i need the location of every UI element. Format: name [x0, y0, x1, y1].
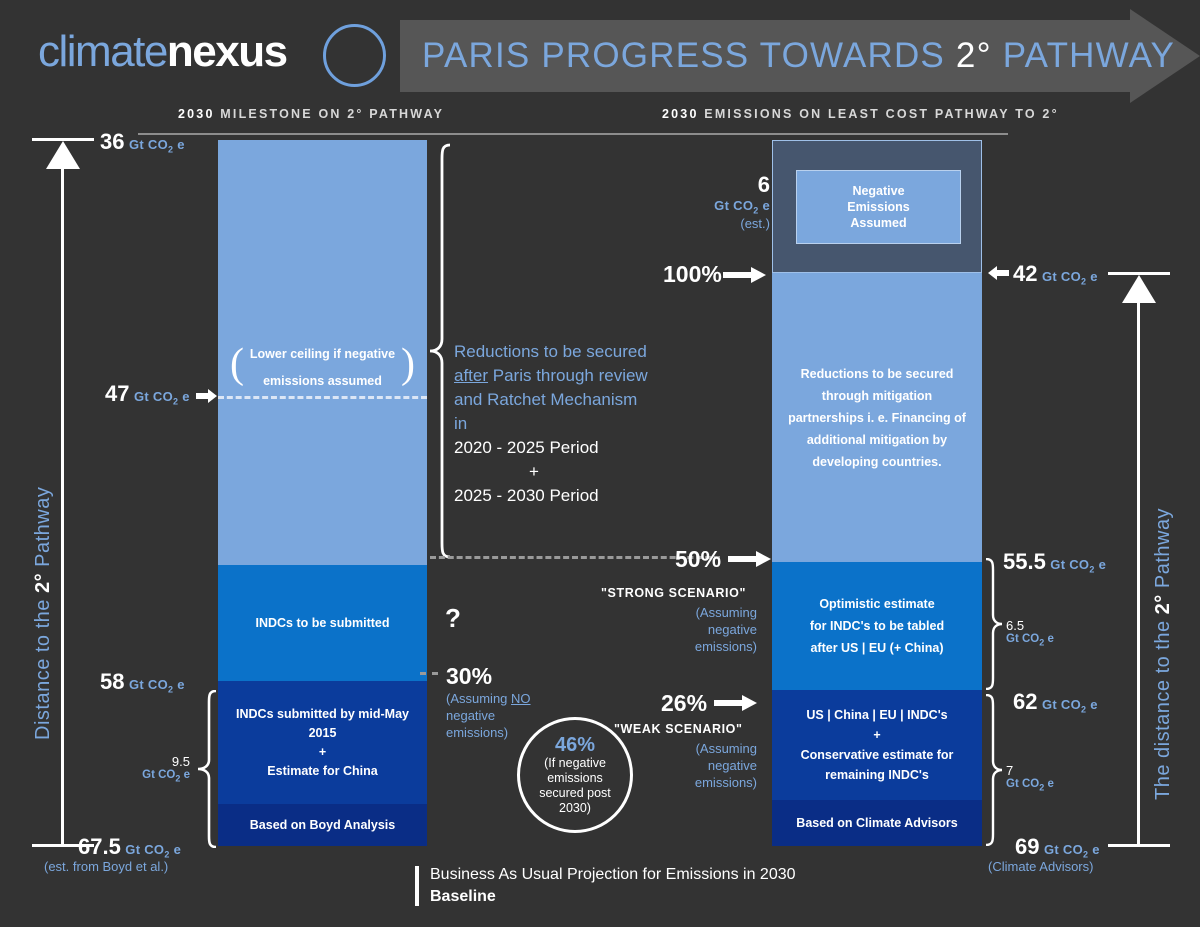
middle-46-circle-l2: emissions — [547, 771, 603, 786]
middle-reductions-l4: in — [454, 412, 684, 436]
strong-scenario-note: (Assuming negative emissions) — [600, 604, 757, 655]
middle-pct-26-arrow-icon — [714, 694, 758, 712]
banner-title-post: PATHWAY — [992, 36, 1175, 75]
right-axis-vertical-label-pre: The distance to the — [1152, 614, 1174, 800]
left-bar-segment-submitted-l4: Estimate for China — [267, 762, 377, 781]
left-axis-arrow-icon — [46, 141, 80, 169]
right-value-69: 69 Gt CO2 e — [1015, 834, 1100, 860]
left-value-36-unit: Gt CO2 e — [129, 137, 185, 152]
middle-reductions-l6: + — [454, 460, 614, 484]
right-neg-emissions-unit: Gt CO2 e — [690, 198, 770, 216]
left-bar-segment-submitted[interactable]: INDCs submitted by mid-May 2015 + Estima… — [218, 681, 427, 804]
right-bar-negative-emissions-l2: Emissions — [847, 199, 910, 215]
right-bar-segment-mitigation-l5: developing countries. — [812, 451, 941, 473]
right-value-62: 62 Gt CO2 e — [1013, 689, 1098, 715]
ceiling-paren-open-icon: ( — [230, 338, 244, 390]
right-value-62-number: 62 — [1013, 689, 1037, 714]
left-value-58: 58 Gt CO2 e — [100, 669, 185, 695]
right-value-42-number: 42 — [1013, 261, 1037, 286]
right-bar-segment-optimistic-l1: Optimistic estimate — [819, 593, 934, 615]
middle-pct-50: 50% — [675, 546, 721, 573]
right-bar-segment-mitigation[interactable]: Reductions to be secured through mitigat… — [772, 273, 982, 562]
right-bracket-7-unit-a: Gt CO — [1006, 778, 1039, 790]
left-bar-segment-source-label: Based on Boyd Analysis — [250, 816, 395, 835]
left-bracket-95-unit: Gt CO2 e — [138, 769, 190, 783]
right-axis-line — [1137, 302, 1140, 846]
logo-text-nexus: nexus — [167, 27, 287, 76]
right-value-69-number: 69 — [1015, 834, 1039, 859]
right-bar-segment-conservative[interactable]: US | China | EU | INDC's + Conservative … — [772, 690, 982, 800]
right-bracket-65-icon — [984, 558, 1004, 690]
right-bar-negative-emissions-l1: Negative — [852, 183, 904, 199]
middle-reductions-l2-after: after — [454, 366, 488, 385]
right-value-69-note: (Climate Advisors) — [988, 859, 1093, 874]
left-value-675-unit-a: Gt CO — [125, 842, 164, 857]
middle-pct-30-note-l1a: (Assuming — [446, 691, 511, 706]
left-value-675-unit: Gt CO2 e — [125, 842, 181, 857]
left-value-47-unit-b: e — [178, 389, 189, 404]
left-bar: INDCs to be submitted INDCs submitted by… — [218, 140, 427, 846]
right-bar-segment-mitigation-l4: additional mitigation by — [807, 429, 947, 451]
left-bar-ceiling-note-l1: Lower ceiling if negative — [232, 341, 413, 368]
right-bar-segment-conservative-l4: remaining INDC's — [825, 765, 929, 785]
right-value-42-unit: Gt CO2 e — [1042, 269, 1098, 284]
middle-reductions-l3: and Ratchet Mechanism — [454, 388, 684, 412]
left-value-58-unit: Gt CO2 e — [129, 677, 185, 692]
left-axis-line — [61, 168, 64, 846]
middle-pct-30: 30% — [446, 663, 492, 690]
left-value-675-note: (est. from Boyd et al.) — [44, 859, 168, 874]
middle-reductions-l2: after Paris through review — [454, 364, 684, 388]
middle-pct-26: 26% — [661, 690, 707, 717]
left-axis-vertical-label: Distance to the 2° Pathway — [32, 487, 55, 740]
left-value-36: 36 Gt CO2 e — [100, 129, 185, 155]
middle-46-circle-l3: secured post — [539, 786, 611, 801]
right-value-555-unit: Gt CO2 e — [1050, 557, 1106, 572]
middle-30-dashline — [420, 672, 438, 675]
right-bracket-7-unit-b: e — [1044, 778, 1054, 790]
left-value-47: 47 Gt CO2 e — [105, 381, 190, 407]
left-value-36-unit-a: Gt CO — [129, 137, 168, 152]
left-value-36-unit-b: e — [173, 137, 184, 152]
right-bar-segment-conservative-l2: + — [873, 725, 880, 745]
right-column-header-text: EMISSIONS ON LEAST COST PATHWAY TO 2° — [699, 107, 1059, 121]
right-bar-segment-source-label: Based on Climate Advisors — [796, 814, 957, 833]
right-bar-segment-mitigation-l1: Reductions to be secured — [801, 363, 954, 385]
weak-scenario-label: "WEAK SCENARIO" — [614, 722, 743, 736]
strong-scenario-note-l1: (Assuming — [600, 604, 757, 621]
right-value-69-unit-b: e — [1088, 842, 1099, 857]
page-header: climatenexus PARIS PROGRESS TOWARDS 2° P… — [0, 0, 1200, 100]
middle-46-circle: 46% (If negative emissions secured post … — [517, 717, 633, 833]
right-axis-vertical-label-post: Pathway — [1152, 508, 1174, 594]
left-value-675-unit-b: e — [170, 842, 181, 857]
left-value-675-number: 67.5 — [78, 834, 121, 859]
top-rule — [138, 133, 1008, 135]
strong-scenario-label: "STRONG SCENARIO" — [601, 586, 746, 600]
right-value-555: 55.5 Gt CO2 e — [1003, 549, 1106, 575]
right-bar-segment-optimistic-l2: for INDC's to be tabled — [810, 615, 944, 637]
right-bracket-7-label: 7 Gt CO2 e — [1006, 763, 1054, 792]
strong-scenario-note-l2: negative — [600, 621, 757, 638]
middle-46-circle-l1: (If negative — [544, 756, 606, 771]
right-bar-segment-source[interactable]: Based on Climate Advisors — [772, 800, 982, 846]
left-bracket-95-icon — [196, 690, 218, 848]
banner-title-degree: 2° — [956, 36, 992, 75]
left-value-58-unit-a: Gt CO — [129, 677, 168, 692]
logo: climatenexus — [38, 22, 388, 82]
left-bracket-95-label: 9.5 Gt CO2 e — [138, 754, 190, 783]
middle-pct-100: 100% — [663, 261, 722, 288]
footer-line-1: Business As Usual Projection for Emissio… — [430, 866, 796, 884]
middle-pct-30-note-l1: (Assuming NO — [446, 690, 576, 707]
left-bar-ceiling-dashline — [218, 396, 427, 399]
right-value-62-unit-b: e — [1086, 697, 1097, 712]
middle-pct-100-arrow-icon — [723, 266, 767, 284]
footer-accent-bar — [415, 866, 419, 906]
left-bar-ceiling-note: ( Lower ceiling if negative emissions as… — [232, 341, 413, 395]
left-axis-vertical-label-post: Pathway — [32, 487, 54, 573]
right-value-62-unit-a: Gt CO — [1042, 697, 1081, 712]
right-bar: Reductions to be secured through mitigat… — [772, 140, 982, 846]
left-column-header-year: 2030 — [178, 107, 215, 121]
middle-reductions-l5: 2020 - 2025 Period — [454, 436, 684, 460]
banner-title: PARIS PROGRESS TOWARDS 2° PATHWAY — [422, 20, 1175, 92]
left-column-header-text: MILESTONE ON 2° PATHWAY — [215, 107, 445, 121]
right-axis-bottom-cap — [1108, 844, 1170, 847]
left-axis-vertical-label-pre: Distance to the — [32, 593, 54, 740]
left-bar-ceiling-note-l2: emissions assumed — [232, 368, 413, 395]
left-bar-segment-to-be-submitted[interactable]: INDCs to be submitted — [218, 565, 427, 681]
right-value-42: 42 Gt CO2 e — [1013, 261, 1098, 287]
right-value-555-number: 55.5 — [1003, 549, 1046, 574]
left-value-47-number: 47 — [105, 381, 129, 406]
right-bar-segment-conservative-l1: US | China | EU | INDC's — [806, 705, 947, 725]
right-bracket-7-unit: Gt CO2 e — [1006, 778, 1054, 792]
left-value-47-unit-a: Gt CO — [134, 389, 173, 404]
left-value-47-arrow-icon — [196, 388, 218, 404]
right-bar-segment-optimistic[interactable]: Optimistic estimate for INDC's to be tab… — [772, 562, 982, 690]
right-value-555-unit-a: Gt CO — [1050, 557, 1089, 572]
logo-ring-icon — [323, 24, 386, 87]
banner: PARIS PROGRESS TOWARDS 2° PATHWAY — [400, 20, 1200, 92]
right-neg-emissions-unit-a: Gt CO — [714, 198, 753, 213]
right-neg-emissions-value: 6 Gt CO2 e (est.) — [690, 172, 770, 231]
left-bracket-95-value: 9.5 — [138, 754, 190, 769]
left-value-47-unit: Gt CO2 e — [134, 389, 190, 404]
left-column-header: 2030 MILESTONE ON 2° PATHWAY — [178, 107, 444, 121]
middle-reductions-l7: 2025 - 2030 Period — [454, 484, 684, 508]
left-bar-segment-submitted-l3: + — [319, 743, 326, 762]
right-neg-emissions-note: (est.) — [690, 216, 770, 231]
right-column-header-year: 2030 — [662, 107, 699, 121]
right-value-42-unit-a: Gt CO — [1042, 269, 1081, 284]
right-bracket-65-unit: Gt CO2 e — [1006, 633, 1054, 647]
middle-reductions-l2-rest: Paris through review — [488, 366, 648, 385]
right-bracket-7-value: 7 — [1006, 763, 1054, 778]
right-axis-vertical-label: The distance to the 2° Pathway — [1152, 508, 1175, 800]
left-axis-vertical-label-degree: 2° — [32, 573, 54, 593]
banner-title-pre: PARIS PROGRESS TOWARDS — [422, 36, 956, 75]
right-value-555-unit-b: e — [1095, 557, 1106, 572]
footer-line-2: Baseline — [430, 888, 496, 906]
right-bracket-65-unit-a: Gt CO — [1006, 633, 1039, 645]
right-column-header: 2030 EMISSIONS ON LEAST COST PATHWAY TO … — [662, 107, 1059, 121]
ceiling-paren-close-icon: ) — [401, 338, 415, 390]
strong-scenario-note-l3: emissions) — [600, 638, 757, 655]
logo-text-climate: climate — [38, 27, 167, 76]
middle-question-mark: ? — [445, 603, 461, 634]
right-value-42-arrow-icon — [988, 265, 1010, 281]
right-value-42-unit-b: e — [1086, 269, 1097, 284]
middle-brace-icon — [428, 143, 454, 561]
left-bracket-95-unit-b: e — [180, 769, 190, 781]
right-bar-segment-mitigation-l2: through mitigation — [822, 385, 932, 407]
left-value-675: 67.5 Gt CO2 e — [78, 834, 181, 860]
right-neg-emissions-unit-b: e — [759, 198, 770, 213]
middle-reductions-text: Reductions to be secured after Paris thr… — [454, 340, 684, 508]
right-value-69-unit-a: Gt CO — [1044, 842, 1083, 857]
right-axis-vertical-label-degree: 2° — [1152, 594, 1174, 614]
middle-46-circle-l4: 2030) — [559, 801, 591, 816]
left-bar-segment-to-be-submitted-label: INDCs to be submitted — [255, 614, 389, 633]
right-value-62-unit: Gt CO2 e — [1042, 697, 1098, 712]
left-bar-segment-submitted-l2: 2015 — [309, 724, 337, 743]
right-bar-segment-mitigation-l3: partnerships i. e. Financing of — [788, 407, 966, 429]
middle-46-circle-pct: 46% — [555, 734, 595, 756]
right-bar-negative-emissions-box[interactable]: Negative Emissions Assumed — [796, 170, 961, 244]
right-value-69-unit: Gt CO2 e — [1044, 842, 1100, 857]
left-bracket-95-unit-a: Gt CO — [142, 769, 175, 781]
right-bar-segment-optimistic-l3: after US | EU (+ China) — [810, 637, 943, 659]
middle-reductions-l1: Reductions to be secured — [454, 340, 684, 364]
right-bar-segment-conservative-l3: Conservative estimate for — [801, 745, 954, 765]
left-bar-segment-source[interactable]: Based on Boyd Analysis — [218, 804, 427, 846]
right-bar-negative-emissions-l3: Assumed — [850, 215, 906, 231]
right-bracket-65-value: 6.5 — [1006, 618, 1054, 633]
left-value-36-number: 36 — [100, 129, 124, 154]
left-value-58-number: 58 — [100, 669, 124, 694]
right-bracket-65-unit-b: e — [1044, 633, 1054, 645]
right-axis-arrow-icon — [1122, 275, 1156, 303]
right-bracket-7-icon — [984, 694, 1004, 846]
middle-pct-30-note-l1b: NO — [511, 691, 531, 706]
left-value-58-unit-b: e — [173, 677, 184, 692]
right-neg-emissions-number: 6 — [690, 172, 770, 198]
middle-pct-50-arrow-icon — [728, 550, 772, 568]
left-bar-segment-submitted-l1: INDCs submitted by mid-May — [236, 705, 409, 724]
right-bracket-65-label: 6.5 Gt CO2 e — [1006, 618, 1054, 647]
